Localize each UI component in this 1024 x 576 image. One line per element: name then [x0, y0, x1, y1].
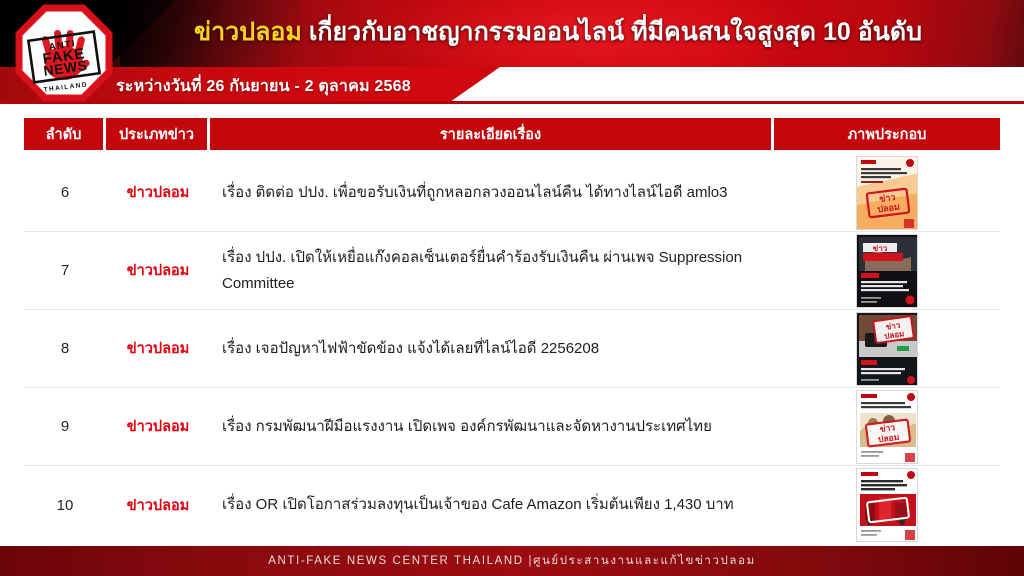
- thumbnail-news-8[interactable]: ข่าว ปลอม: [856, 312, 918, 386]
- cell-detail: เรื่อง ติดต่อ ปปง. เพื่อขอรับเงินที่ถูกห…: [210, 180, 774, 206]
- column-header-image: ภาพประกอบ: [774, 118, 1000, 150]
- svg-text:ข่าว: ข่าว: [873, 244, 888, 253]
- thumbnail-news-6[interactable]: ข่าว ปลอม: [856, 156, 918, 230]
- cell-image: ข่าว: [774, 234, 1000, 308]
- table-row: 7 ข่าวปลอม เรื่อง ปปง. เปิดให้เหยื่อแก๊ง…: [24, 232, 1000, 310]
- thumbnail-news-9[interactable]: ข่าว ปลอม: [856, 390, 918, 464]
- cell-detail: เรื่อง OR เปิดโอกาสร่วมลงทุนเป็นเจ้าของ …: [210, 492, 774, 518]
- table-header-row: ลำดับ ประเภทข่าว รายละเอียดเรื่อง ภาพประ…: [24, 118, 1000, 150]
- cell-image: ข่าว ปลอม: [774, 312, 1000, 386]
- cell-detail: เรื่อง กรมพัฒนาฝีมือแรงงาน เปิดเพจ องค์ก…: [210, 414, 774, 440]
- date-range-label: ระหว่างวันที่ 26 กันยายน - 2 ตุลาคม 2568: [116, 74, 411, 99]
- cell-image: [774, 468, 1000, 542]
- cell-image: ข่าว ปลอม: [774, 156, 1000, 230]
- cell-type: ข่าวปลอม: [106, 337, 210, 360]
- footer-bar: ANTI-FAKE NEWS CENTER THAILAND |ศูนย์ประ…: [0, 546, 1024, 576]
- cell-type: ข่าวปลอม: [106, 181, 210, 204]
- column-header-type: ประเภทข่าว: [106, 118, 210, 150]
- cell-detail: เรื่อง เจอปัญหาไฟฟ้าขัดข้อง แจ้งได้เลยที…: [210, 336, 774, 362]
- page-title-highlight: ข่าวปลอม: [194, 18, 302, 46]
- column-header-detail: รายละเอียดเรื่อง: [210, 118, 774, 150]
- fake-news-ranking-infographic: ข่าวปลอม เกี่ยวกับอาชญากรรมออนไลน์ ที่มี…: [0, 0, 1024, 576]
- header-underline: [0, 101, 1024, 104]
- cell-type: ข่าวปลอม: [106, 259, 210, 282]
- cell-detail: เรื่อง ปปง. เปิดให้เหยื่อแก๊งคอลเซ็นเตอร…: [210, 245, 774, 297]
- table-row: 9 ข่าวปลอม เรื่อง กรมพัฒนาฝีมือแรงงาน เป…: [24, 388, 1000, 466]
- footer-label: ANTI-FAKE NEWS CENTER THAILAND |ศูนย์ประ…: [268, 552, 756, 570]
- table-row: 8 ข่าวปลอม เรื่อง เจอปัญหาไฟฟ้าขัดข้อง แ…: [24, 310, 1000, 388]
- table-body: 6 ข่าวปลอม เรื่อง ติดต่อ ปปง. เพื่อขอรับ…: [24, 154, 1000, 544]
- cell-rank: 7: [24, 262, 106, 279]
- thumbnail-news-10[interactable]: [856, 468, 918, 542]
- page-title-part2: เกี่ยวกับอาชญากรรมออนไลน์: [302, 18, 631, 46]
- page-title-part3: ที่มีคนสนใจสูงสุด 10 อันดับ: [631, 18, 922, 46]
- cell-rank: 6: [24, 184, 106, 201]
- cell-type: ข่าวปลอม: [106, 494, 210, 517]
- anti-fake-news-logo-icon: ANTI FAKE NEWS THAILAND: [14, 3, 114, 108]
- thumbnail-news-7[interactable]: ข่าว: [856, 234, 918, 308]
- cell-image: ข่าว ปลอม: [774, 390, 1000, 464]
- cell-rank: 10: [24, 497, 106, 514]
- table-row: 6 ข่าวปลอม เรื่อง ติดต่อ ปปง. เพื่อขอรับ…: [24, 154, 1000, 232]
- table-row: 10 ข่าวปลอม เรื่อง OR เปิดโอกาสร่วมลงทุน…: [24, 466, 1000, 544]
- cell-type: ข่าวปลอม: [106, 415, 210, 438]
- cell-rank: 9: [24, 418, 106, 435]
- cell-rank: 8: [24, 340, 106, 357]
- column-header-no: ลำดับ: [24, 118, 106, 150]
- page-title: ข่าวปลอม เกี่ยวกับอาชญากรรมออนไลน์ ที่มี…: [118, 16, 998, 48]
